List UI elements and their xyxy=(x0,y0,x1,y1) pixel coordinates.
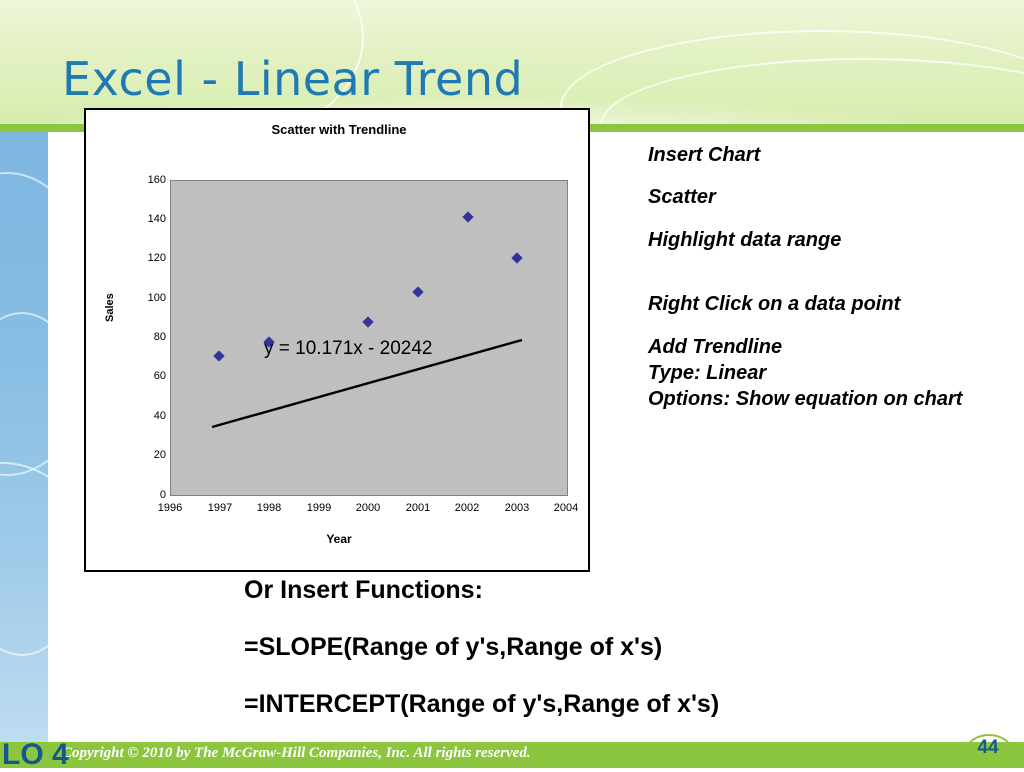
functions-column: Or Insert Functions: =SLOPE(Range of y's… xyxy=(244,576,1004,747)
instructions-column: Insert Chart Scatter Highlight data rang… xyxy=(648,144,1008,431)
spacer xyxy=(648,271,1008,293)
learning-objective-label: LO 4 xyxy=(2,738,69,772)
copyright-text: Copyright © 2010 by The McGraw-Hill Comp… xyxy=(62,745,531,762)
y-tick-160: 160 xyxy=(124,174,166,186)
y-tick-40: 40 xyxy=(124,410,166,422)
chart-title: Scatter with Trendline xyxy=(86,122,592,137)
instruction-highlight-range: Highlight data range xyxy=(648,229,1008,251)
y-tick-80: 80 xyxy=(124,331,166,343)
y-tick-140: 140 xyxy=(124,213,166,225)
instruction-add-trendline: Add Trendline xyxy=(648,336,1008,358)
chart-panel: Scatter with Trendline 160 140 120 100 8… xyxy=(84,108,590,572)
trendline-equation: y = 10.171x - 20242 xyxy=(264,338,433,360)
instruction-show-equation: Options: Show equation on chart xyxy=(648,388,1008,410)
functions-heading: Or Insert Functions: xyxy=(244,576,1004,605)
y-axis-title: Sales xyxy=(104,293,116,322)
decorative-arc xyxy=(0,462,48,742)
function-slope: =SLOPE(Range of y's,Range of x's) xyxy=(244,633,1004,662)
y-tick-60: 60 xyxy=(124,370,166,382)
instruction-scatter: Scatter xyxy=(648,186,1008,208)
instruction-type-linear: Type: Linear xyxy=(648,362,1008,384)
y-tick-20: 20 xyxy=(124,449,166,461)
left-side-band xyxy=(0,132,48,742)
instruction-insert-chart: Insert Chart xyxy=(648,144,1008,166)
y-tick-100: 100 xyxy=(124,292,166,304)
y-tick-0: 0 xyxy=(124,489,166,501)
y-tick-120: 120 xyxy=(124,252,166,264)
slide-number-badge: 44 xyxy=(966,734,1010,764)
x-axis-title: Year xyxy=(86,532,592,546)
instruction-right-click: Right Click on a data point xyxy=(648,293,1008,315)
x-tick-2004: 2004 xyxy=(536,502,596,514)
page-title: Excel - Linear Trend xyxy=(62,52,523,106)
function-intercept: =INTERCEPT(Range of y's,Range of x's) xyxy=(244,690,1004,719)
slide-number-text: 44 xyxy=(966,737,1010,759)
